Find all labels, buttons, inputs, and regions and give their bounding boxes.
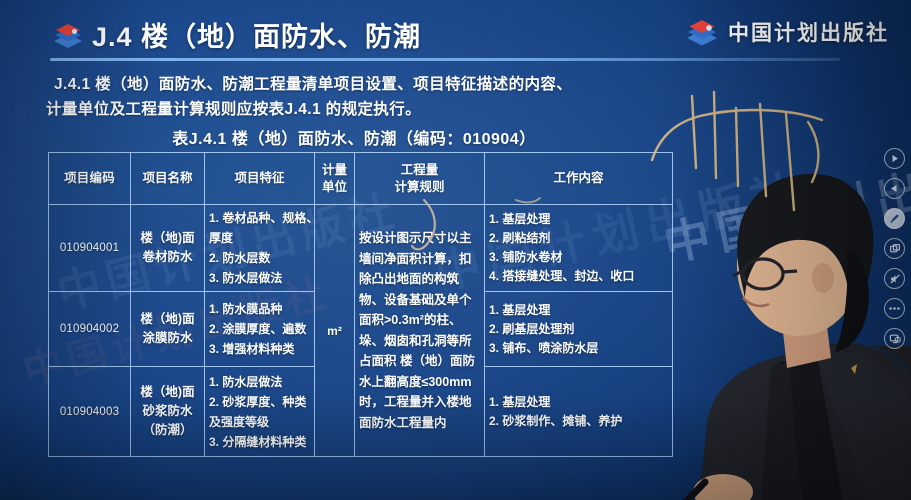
screen-share-icon[interactable] [884, 328, 905, 349]
cell-code: 010904001 [49, 205, 131, 292]
slide-header: J.4 楼（地）面防水、防潮 中国计划出版社 [0, 0, 911, 66]
work-item: 2. 刷基层处理剂 [489, 320, 668, 339]
publisher-name: 中国计划出版社 [728, 17, 889, 47]
work-item: 4. 搭接缝处理、封边、收口 [489, 267, 668, 286]
screenshot-icon[interactable] [884, 238, 905, 259]
col-header-rule-line2: 计算规则 [359, 179, 480, 196]
back-arrow-icon[interactable] [884, 178, 905, 199]
more-icon[interactable] [884, 298, 905, 319]
cell-work-content: 1. 基层处理 2. 刷粘结剂 3. 铺防水卷材 4. 搭接缝处理、封边、收口 [485, 205, 673, 292]
cell-work-content: 1. 基层处理 2. 砂浆制作、摊铺、养护 [485, 367, 673, 457]
intro-paragraph: J.4.1 楼（地）面防水、防潮工程量清单项目设置、项目特征描述的内容、 计量单… [54, 72, 654, 122]
col-header-rule-line1: 工程量 [359, 162, 480, 179]
feature-item: 2. 防水层数 [209, 248, 310, 268]
cell-name: 楼（地)面 涂膜防水 [131, 292, 205, 367]
table-row: 010904001 楼（地)面 卷材防水 1. 卷材品种、规格、 厚度 2. 防… [49, 205, 673, 292]
table-header-row: 项目编码 项目名称 项目特征 计量 单位 工程量 计算规则 工作内容 [49, 153, 673, 205]
feature-item: 厚度 [209, 228, 310, 248]
pen-icon[interactable] [884, 208, 905, 229]
col-header-unit-line1: 计量 [319, 162, 350, 179]
feature-item: 3. 分隔缝材料种类 [209, 432, 310, 452]
feature-item: 3. 防水层做法 [209, 268, 310, 288]
work-item: 2. 刷粘结剂 [489, 229, 668, 248]
work-item: 1. 基层处理 [489, 393, 668, 412]
col-header-rule: 工程量 计算规则 [355, 153, 485, 205]
col-header-name: 项目名称 [131, 153, 205, 205]
feature-item: 2. 砂浆厚度、种类 [209, 392, 310, 412]
intro-line-2: 计量单位及工程量计算规则应按表J.4.1 的规定执行。 [46, 97, 654, 122]
cell-code: 010904002 [49, 292, 131, 367]
feature-item: 2. 涂膜厚度、遍数 [209, 319, 310, 339]
feature-item: 1. 卷材品种、规格、 [209, 208, 310, 228]
play-icon[interactable] [884, 148, 905, 169]
title-divider [50, 58, 840, 61]
page-title: J.4 楼（地）面防水、防潮 [92, 15, 421, 54]
cell-name-line2: 砂浆防水 [135, 402, 200, 421]
specification-table: 项目编码 项目名称 项目特征 计量 单位 工程量 计算规则 工作内容 01090… [48, 152, 673, 457]
cell-name: 楼（地)面 砂浆防水 （防潮） [131, 367, 205, 457]
cell-name-line2: 卷材防水 [135, 248, 200, 267]
work-item: 2. 砂浆制作、摊铺、养护 [489, 412, 668, 431]
cell-name: 楼（地)面 卷材防水 [131, 205, 205, 292]
cell-features: 1. 防水层做法 2. 砂浆厚度、种类 及强度等级 3. 分隔缝材料种类 [205, 367, 315, 457]
col-header-work: 工作内容 [485, 153, 673, 205]
work-item: 3. 铺布、喷涂防水层 [489, 339, 668, 358]
cell-name-line2: 涂膜防水 [135, 329, 200, 348]
cell-unit: m² [315, 205, 355, 457]
book-stack-icon [52, 22, 84, 50]
work-item: 1. 基层处理 [489, 210, 668, 229]
cell-calculation-rule: 按设计图示尺寸以主墙间净面积计算，扣除凸出地面的构筑物、设备基础及单个面积>0.… [355, 205, 485, 457]
cell-name-line3: （防潮） [135, 421, 200, 440]
work-item: 1. 基层处理 [489, 301, 668, 320]
col-header-features: 项目特征 [205, 153, 315, 205]
feature-item: 及强度等级 [209, 412, 310, 432]
feature-item: 1. 防水膜品种 [209, 299, 310, 319]
intro-line-1: J.4.1 楼（地）面防水、防潮工程量清单项目设置、项目特征描述的内容、 [54, 72, 654, 97]
book-stack-icon [685, 18, 719, 47]
cell-work-content: 1. 基层处理 2. 刷基层处理剂 3. 铺布、喷涂防水层 [485, 292, 673, 367]
cell-name-line1: 楼（地)面 [135, 383, 200, 402]
cell-features: 1. 卷材品种、规格、 厚度 2. 防水层数 3. 防水层做法 [205, 205, 315, 292]
table-caption: 表J.4.1 楼（地）面防水、防潮（编码：010904） [54, 125, 654, 149]
cell-code: 010904003 [49, 367, 131, 457]
player-toolbar[interactable] [884, 148, 905, 349]
cell-features: 1. 防水膜品种 2. 涂膜厚度、遍数 3. 增强材料种类 [205, 292, 315, 367]
calculation-rule-text: 按设计图示尺寸以主墙间净面积计算，扣除凸出地面的构筑物、设备基础及单个面积>0.… [359, 228, 480, 433]
work-item: 3. 铺防水卷材 [489, 248, 668, 267]
col-header-unit-line2: 单位 [319, 179, 350, 196]
mute-icon[interactable] [884, 268, 905, 289]
publisher-brand: 中国计划出版社 [685, 12, 889, 52]
cell-name-line1: 楼（地)面 [135, 310, 200, 329]
col-header-code: 项目编码 [49, 153, 131, 205]
col-header-unit: 计量 单位 [315, 153, 355, 205]
feature-item: 1. 防水层做法 [209, 372, 310, 392]
cell-name-line1: 楼（地)面 [135, 229, 200, 248]
feature-item: 3. 增强材料种类 [209, 339, 310, 359]
